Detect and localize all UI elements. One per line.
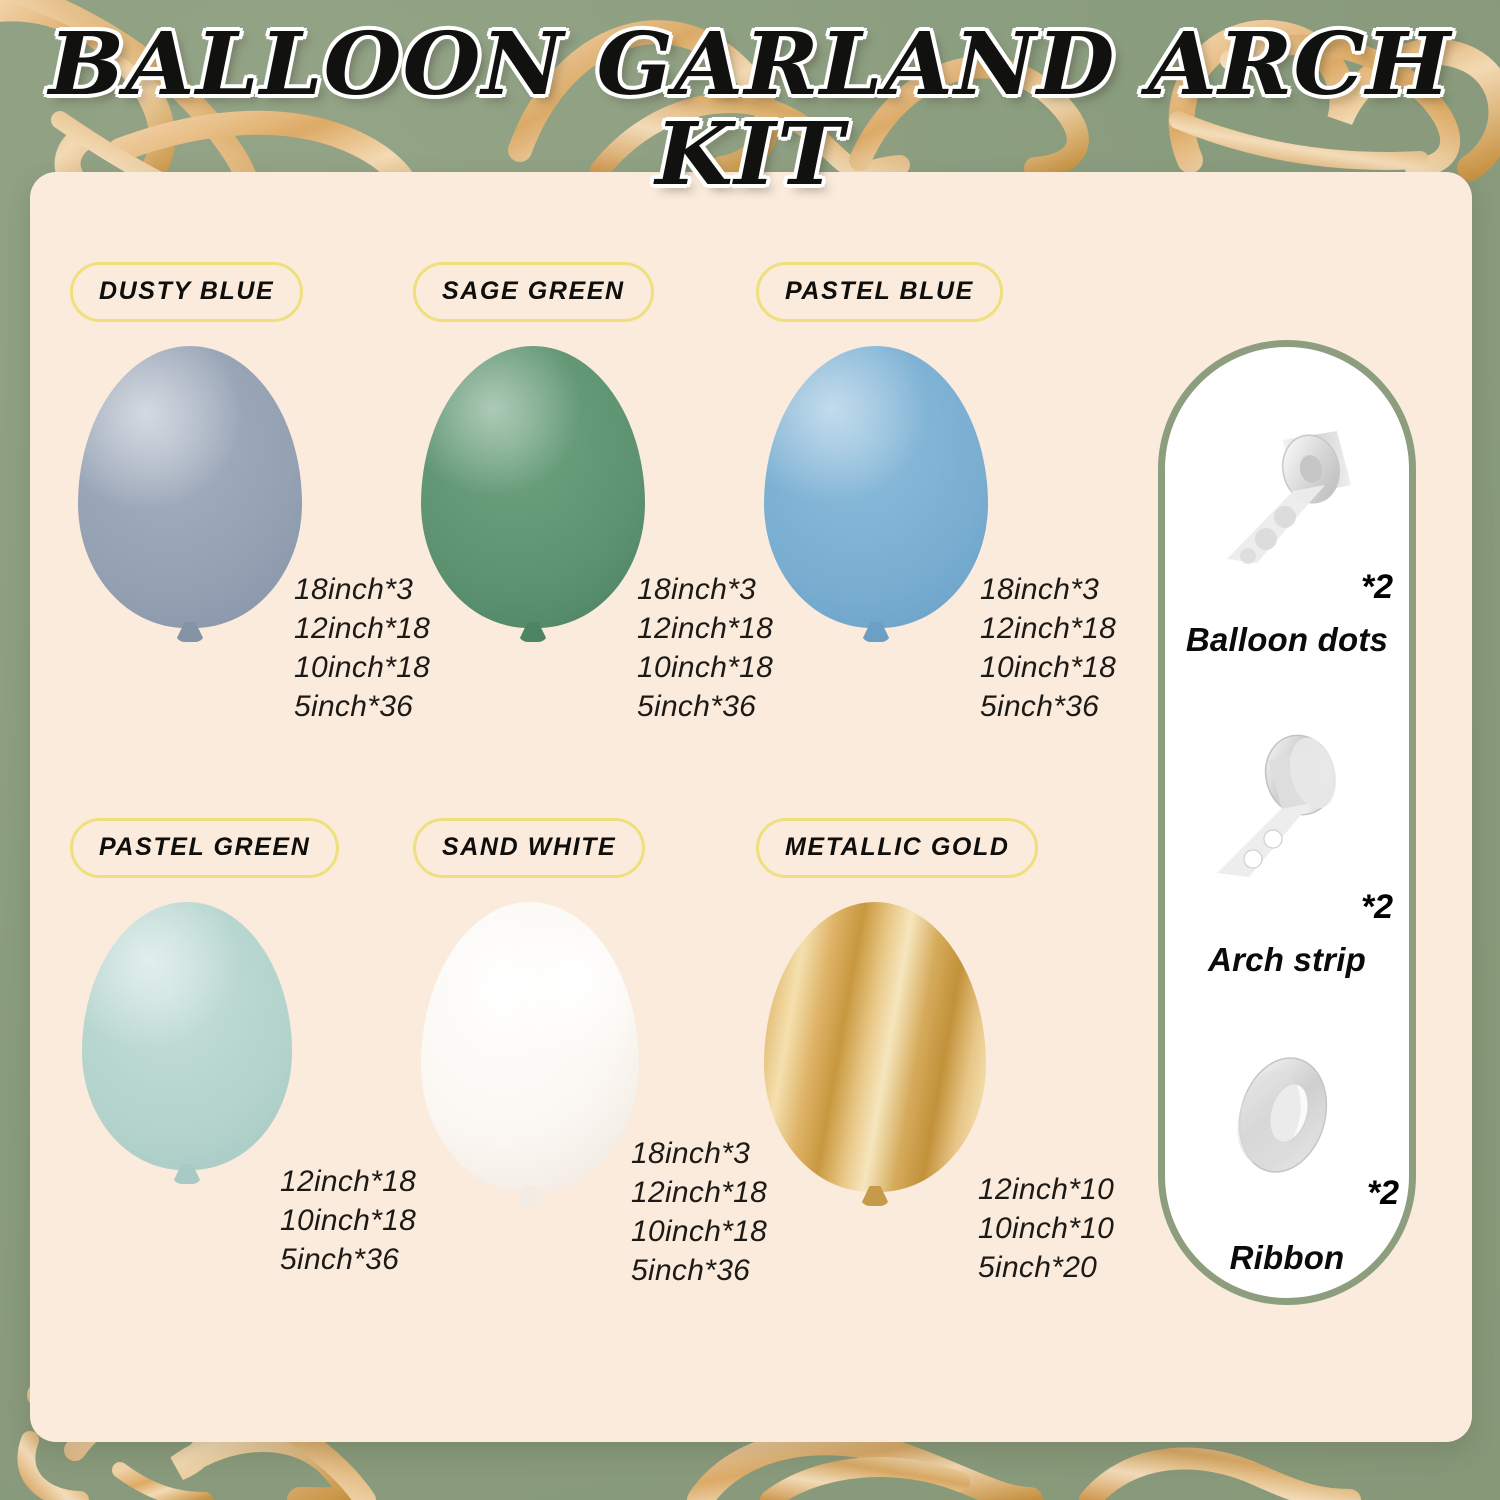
page-title: BALLOON GARLAND ARCH KIT — [0, 20, 1500, 201]
tape-roll-dots-icon: *2 — [1165, 393, 1409, 603]
accessories-panel: *2 Balloon dots — [1158, 340, 1416, 1305]
size-line: 12inch*18 — [980, 609, 1116, 648]
color-label-badge: PASTEL GREEN — [70, 818, 339, 878]
balloon-icon — [78, 346, 302, 628]
balloon-zone: 18inch*3 12inch*18 10inch*18 5inch*36 — [70, 324, 420, 794]
ribbon-spool-icon: *2 — [1165, 1031, 1409, 1221]
balloon-cell-sand-white: SAND WHITE 18inch*3 12inch*18 10inch*18 … — [413, 818, 763, 1363]
size-line: 18inch*3 — [980, 570, 1116, 609]
color-label-badge: PASTEL BLUE — [756, 262, 1003, 322]
size-list: 18inch*3 12inch*18 10inch*18 5inch*36 — [637, 570, 773, 726]
size-list: 12inch*10 10inch*10 5inch*20 — [978, 1170, 1114, 1287]
size-line: 18inch*3 — [631, 1134, 767, 1173]
size-line: 12inch*18 — [294, 609, 430, 648]
label-row: SAGE GREEN — [413, 262, 763, 324]
balloon-icon — [82, 902, 292, 1170]
size-list: 12inch*18 10inch*18 5inch*36 — [280, 1162, 416, 1279]
size-line: 10inch*18 — [294, 648, 430, 687]
size-line: 18inch*3 — [637, 570, 773, 609]
label-row: PASTEL BLUE — [756, 262, 1106, 324]
color-label-text: SAGE GREEN — [442, 277, 625, 305]
color-label-text: PASTEL BLUE — [785, 277, 974, 305]
color-label-text: SAND WHITE — [442, 833, 616, 861]
balloon-icon — [764, 902, 986, 1192]
accessory-name: Balloon dots — [1165, 621, 1409, 659]
label-row: SAND WHITE — [413, 818, 763, 880]
size-line: 5inch*36 — [980, 687, 1116, 726]
color-label-text: METALLIC GOLD — [785, 833, 1009, 861]
accessory-ribbon: *2 Ribbon — [1165, 1031, 1409, 1299]
color-label-text: DUSTY BLUE — [99, 277, 274, 305]
balloon-zone: 18inch*3 12inch*18 10inch*18 5inch*36 — [413, 880, 763, 1350]
product-card: DUSTY BLUE 18inch*3 12inch*18 10inch*18 … — [30, 172, 1472, 1442]
size-line: 12inch*10 — [978, 1170, 1114, 1209]
balloon-cell-dusty-blue: DUSTY BLUE 18inch*3 12inch*18 10inch*18 … — [70, 262, 420, 807]
balloon-cell-sage-green: SAGE GREEN 18inch*3 12inch*18 10inch*18 … — [413, 262, 763, 807]
size-line: 12inch*18 — [631, 1173, 767, 1212]
accessory-balloon-dots: *2 Balloon dots — [1165, 393, 1409, 713]
accessory-name: Arch strip — [1165, 941, 1409, 979]
balloon-cell-pastel-green: PASTEL GREEN 12inch*18 10inch*18 5inch*3… — [70, 818, 420, 1363]
page-title-text: BALLOON GARLAND ARCH KIT — [0, 20, 1500, 201]
arch-strip-roll-icon: *2 — [1165, 713, 1409, 923]
size-line: 10inch*10 — [978, 1209, 1114, 1248]
label-row: DUSTY BLUE — [70, 262, 420, 324]
size-line: 18inch*3 — [294, 570, 430, 609]
size-line: 5inch*36 — [280, 1240, 416, 1279]
color-label-badge: SAND WHITE — [413, 818, 645, 878]
color-label-text: PASTEL GREEN — [99, 833, 310, 861]
balloon-cell-pastel-blue: PASTEL BLUE 18inch*3 12inch*18 10inch*18… — [756, 262, 1106, 807]
accessory-name: Ribbon — [1165, 1239, 1409, 1277]
size-list: 18inch*3 12inch*18 10inch*18 5inch*36 — [294, 570, 430, 726]
balloon-grid: DUSTY BLUE 18inch*3 12inch*18 10inch*18 … — [70, 262, 1145, 1382]
size-line: 10inch*18 — [280, 1201, 416, 1240]
size-line: 5inch*20 — [978, 1248, 1114, 1287]
size-line: 5inch*36 — [631, 1251, 767, 1290]
color-label-badge: DUSTY BLUE — [70, 262, 303, 322]
accessory-quantity: *2 — [1367, 1174, 1399, 1213]
label-row: METALLIC GOLD — [756, 818, 1106, 880]
accessory-arch-strip: *2 Arch strip — [1165, 713, 1409, 1031]
size-line: 10inch*18 — [980, 648, 1116, 687]
balloon-icon — [764, 346, 988, 628]
size-line: 10inch*18 — [637, 648, 773, 687]
size-list: 18inch*3 12inch*18 10inch*18 5inch*36 — [980, 570, 1116, 726]
balloon-zone: 12inch*18 10inch*18 5inch*36 — [70, 880, 420, 1350]
size-line: 10inch*18 — [631, 1212, 767, 1251]
balloon-icon — [421, 902, 639, 1192]
size-list: 18inch*3 12inch*18 10inch*18 5inch*36 — [631, 1134, 767, 1290]
size-line: 12inch*18 — [637, 609, 773, 648]
size-line: 5inch*36 — [637, 687, 773, 726]
balloon-icon — [421, 346, 645, 628]
accessory-quantity: *2 — [1361, 888, 1393, 927]
balloon-zone: 18inch*3 12inch*18 10inch*18 5inch*36 — [413, 324, 763, 794]
color-label-badge: SAGE GREEN — [413, 262, 654, 322]
size-line: 5inch*36 — [294, 687, 430, 726]
balloon-zone: 18inch*3 12inch*18 10inch*18 5inch*36 — [756, 324, 1106, 794]
size-line: 12inch*18 — [280, 1162, 416, 1201]
balloon-zone: 12inch*10 10inch*10 5inch*20 — [756, 880, 1106, 1350]
color-label-badge: METALLIC GOLD — [756, 818, 1038, 878]
balloon-cell-metallic-gold: METALLIC GOLD 12inch*10 10inch*10 5inch*… — [756, 818, 1106, 1363]
label-row: PASTEL GREEN — [70, 818, 420, 880]
accessory-quantity: *2 — [1361, 568, 1393, 607]
